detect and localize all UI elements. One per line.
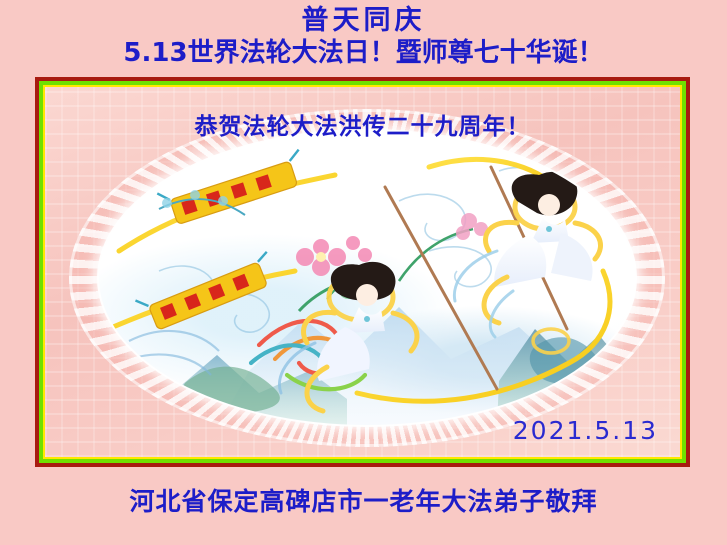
celestial-maiden-right bbox=[454, 172, 600, 337]
greeting-card-page: 普天同庆 5.13世界法轮大法日！暨师尊七十华诞！ bbox=[0, 0, 727, 545]
painting-artwork bbox=[99, 131, 635, 425]
picture-frame: 恭贺法轮大法洪传二十九周年！ 2021.5.13 bbox=[35, 77, 690, 467]
page-title-sub: 5.13世界法轮大法日！暨师尊七十华诞！ bbox=[0, 38, 727, 68]
artwork-date: 2021.5.13 bbox=[513, 416, 658, 445]
traditional-chinese-painting bbox=[99, 131, 635, 425]
picture-frame-inner: 恭贺法轮大法洪传二十九周年！ 2021.5.13 bbox=[43, 85, 682, 459]
artwork-banner-text: 恭贺法轮大法洪传二十九周年！ bbox=[45, 107, 680, 141]
scroll-banner-upper bbox=[157, 148, 309, 228]
page-title-main: 普天同庆 bbox=[0, 6, 727, 36]
footer-caption: 河北省保定高碑店市一老年大法弟子敬拜 bbox=[0, 482, 727, 518]
scroll-banner-lower bbox=[135, 248, 278, 334]
